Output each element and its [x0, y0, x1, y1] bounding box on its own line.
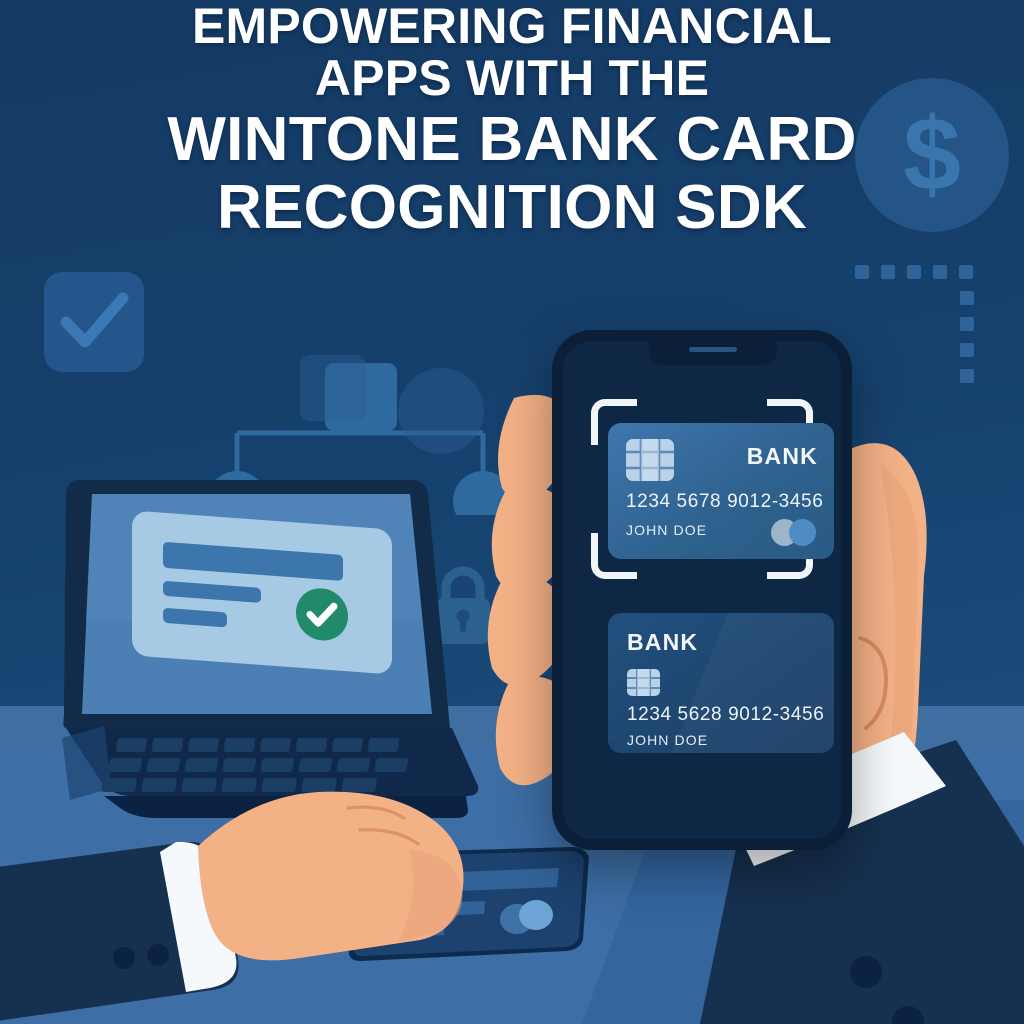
card-bank-label: BANK [627, 629, 698, 656]
check-circle-icon [296, 586, 348, 642]
illustration-canvas: $ [0, 0, 1024, 1024]
phone-speaker [689, 347, 737, 352]
scanned-bank-card[interactable]: BANK 1234 5678 9012-3456 JOHN DOE [608, 423, 834, 559]
card-holder-name: JOHN DOE [626, 522, 707, 538]
card-bank-label: BANK [747, 443, 818, 470]
form-field-row-1 [163, 542, 343, 581]
soft-circle-deco [398, 368, 484, 454]
card-chip-icon [626, 439, 674, 481]
recognized-bank-card[interactable]: BANK 1234 5628 9012-3456 JOHN DOE [608, 613, 834, 753]
form-field-row-3 [163, 608, 227, 628]
card-network-logo-icon [771, 519, 816, 546]
laptop [60, 470, 480, 840]
form-field-row-2 [163, 581, 261, 603]
card-number: 1234 5678 9012-3456 [626, 491, 823, 513]
smartphone[interactable]: BANK 1234 5678 9012-3456 JOHN DOE BANK [552, 330, 852, 850]
card-holder-name: JOHN DOE [627, 732, 708, 748]
check-badge-icon [44, 272, 144, 372]
soft-square-deco [300, 355, 366, 421]
card-chip-icon [627, 669, 660, 696]
laptop-screen-card-form [132, 510, 392, 674]
check-icon [44, 272, 144, 372]
hand-on-laptop-trackpad [0, 790, 470, 1024]
card-number: 1234 5628 9012-3456 [627, 704, 824, 726]
phone-notch [649, 339, 777, 365]
dollar-sign-icon: $ [855, 78, 1009, 232]
